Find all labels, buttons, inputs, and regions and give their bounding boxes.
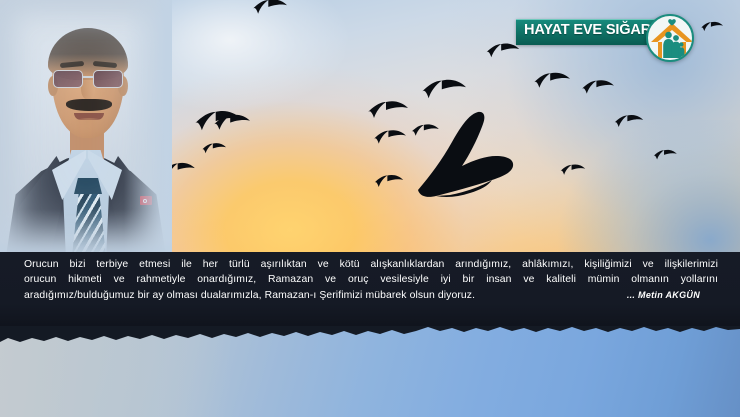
message-text-block: Orucun bizi terbiye etmesi ile her türlü… bbox=[24, 257, 718, 300]
ramadan-greeting-poster: HAYAT EVE SIĞAR bbox=[0, 0, 740, 417]
author-signature: ... Metin AKGÜN bbox=[627, 290, 718, 300]
partner-logos: EĞİTİMDE KALİTEYİ GELİŞTİRME DERNEĞİ bbox=[0, 326, 740, 417]
message-line-2: orucun hikmeti ve rahmetiyle onardığımız… bbox=[24, 272, 718, 287]
metin-akgun-portrait bbox=[0, 0, 172, 255]
portrait-bottom-fade bbox=[0, 0, 172, 255]
message-line-1: Orucun bizi terbiye etmesi ile her türlü… bbox=[24, 257, 718, 272]
house-family-heart-icon bbox=[646, 14, 694, 62]
